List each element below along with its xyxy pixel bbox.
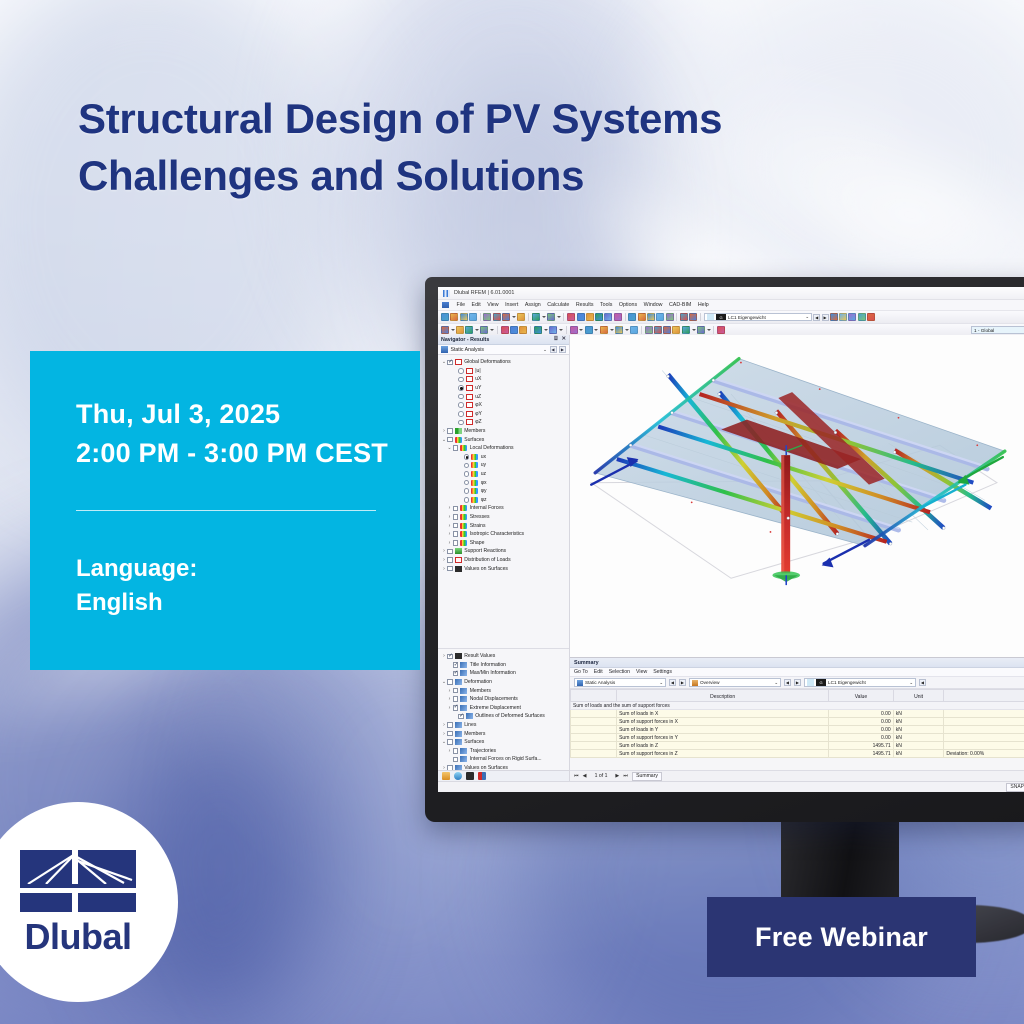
toolbar-icon[interactable] bbox=[441, 313, 449, 321]
toolbar-separator bbox=[497, 326, 498, 334]
tree-item[interactable]: ›Strains bbox=[438, 521, 569, 530]
chevron-down-icon[interactable]: ⌄ bbox=[805, 314, 809, 320]
divider bbox=[76, 510, 376, 511]
tree-item-icon bbox=[460, 523, 467, 529]
summary-analysis-value: Static Analysis bbox=[585, 680, 615, 685]
tree-radio[interactable] bbox=[458, 420, 464, 426]
tree-item[interactable]: φy bbox=[438, 487, 569, 496]
tree-checkbox[interactable] bbox=[447, 360, 453, 366]
chevron-down-icon[interactable] bbox=[542, 316, 546, 318]
tree-item-icon bbox=[460, 531, 467, 537]
toolbar-icon[interactable] bbox=[519, 326, 527, 334]
tree-item[interactable]: Title Information bbox=[438, 661, 569, 670]
toolbar-icon[interactable] bbox=[682, 326, 690, 334]
table-row[interactable]: Sum of loads in Y0.00kN bbox=[571, 726, 1024, 734]
tree-item-label: Result Values bbox=[464, 653, 495, 659]
video-tab-icon[interactable] bbox=[466, 772, 474, 780]
tree-checkbox[interactable] bbox=[453, 523, 459, 529]
tree-item[interactable]: Max/Min Information bbox=[438, 669, 569, 678]
toolbar-icon[interactable] bbox=[672, 326, 680, 334]
toolbar-icon[interactable] bbox=[689, 313, 697, 321]
toolbar-icon[interactable] bbox=[460, 313, 468, 321]
table-row[interactable]: Sum of support forces in X0.00kN bbox=[571, 718, 1024, 726]
webinar-info-card: Thu, Jul 3, 2025 2:00 PM - 3:00 PM CEST … bbox=[30, 351, 420, 670]
tree-checkbox[interactable] bbox=[453, 705, 459, 711]
tree-checkbox[interactable] bbox=[447, 739, 453, 745]
summary-footer: ⏮ ◀ 1 of 1 ▶ ⏭ Summary bbox=[570, 770, 1024, 781]
toolbar-loadcase-prev[interactable]: ◀ bbox=[813, 314, 820, 321]
tree-item[interactable]: ux bbox=[438, 453, 569, 462]
tree-item-icon bbox=[466, 385, 473, 391]
tree-item[interactable]: ›Trajectories bbox=[438, 747, 569, 756]
cell-value: 1495.71 bbox=[829, 750, 894, 758]
tree-item[interactable]: ›Isotropic Characteristics bbox=[438, 530, 569, 539]
toolbar-icon[interactable] bbox=[549, 326, 557, 334]
chevron-down-icon[interactable] bbox=[475, 329, 479, 331]
tree-item-icon bbox=[466, 376, 473, 382]
chevron-down-icon[interactable] bbox=[512, 316, 516, 318]
tree-checkbox[interactable] bbox=[453, 531, 459, 537]
tree-item-icon bbox=[460, 445, 467, 451]
snap-status[interactable]: SNAP bbox=[1006, 783, 1024, 792]
summary-loadcase-value: LC1 Eigengewicht bbox=[828, 680, 866, 685]
chevron-down-icon[interactable] bbox=[559, 329, 563, 331]
tree-item-icon bbox=[455, 739, 462, 745]
prev-page-button[interactable]: ◀ bbox=[583, 773, 587, 779]
summary-view-value: Overview bbox=[700, 680, 720, 685]
tree-item-label: Trajectories bbox=[470, 748, 496, 754]
toolbar-icon[interactable] bbox=[510, 326, 518, 334]
toolbar-icon[interactable] bbox=[858, 313, 866, 321]
tree-item[interactable]: Internal Forces on Rigid Surfa... bbox=[438, 755, 569, 764]
tree-radio[interactable] bbox=[458, 385, 464, 391]
tree-item[interactable]: ›Lines bbox=[438, 721, 569, 730]
tree-checkbox[interactable] bbox=[447, 679, 453, 685]
tree-checkbox[interactable] bbox=[453, 696, 459, 702]
tree-item-icon bbox=[471, 480, 478, 486]
toolbar-icon[interactable] bbox=[663, 326, 671, 334]
toolbar-icon[interactable] bbox=[585, 326, 593, 334]
chevron-down-icon[interactable] bbox=[594, 329, 598, 331]
column-header-unit: Unit bbox=[893, 690, 944, 702]
toolbar-icon[interactable] bbox=[547, 313, 555, 321]
cell-note bbox=[944, 710, 1024, 718]
member-tab-icon[interactable] bbox=[478, 772, 486, 780]
summary-analysis-next[interactable]: ▶ bbox=[679, 679, 686, 686]
page-indicator: 1 of 1 bbox=[595, 773, 608, 779]
menu-item-options[interactable]: Options bbox=[619, 302, 637, 308]
tree-item[interactable]: uy bbox=[438, 461, 569, 470]
model-viewport[interactable]: Summary Go To Edit Selection View Settin… bbox=[570, 335, 1024, 781]
loadcase-color-swatch bbox=[807, 679, 814, 686]
toolbar-icon[interactable] bbox=[469, 313, 477, 321]
tree-item-label: Members bbox=[464, 731, 485, 737]
tree-item[interactable]: ⌄Deformation bbox=[438, 678, 569, 687]
toolbar-icon[interactable] bbox=[614, 313, 622, 321]
analysis-icon bbox=[441, 346, 448, 353]
summary-title: Summary bbox=[570, 658, 1024, 668]
tree-item[interactable]: ›Values on Surfaces bbox=[438, 564, 569, 573]
menu-app-icon bbox=[442, 302, 449, 308]
work-area: Navigator - Results ⌸ ✕ Static Analysis … bbox=[438, 335, 1024, 781]
tree-checkbox[interactable] bbox=[453, 757, 459, 763]
toolbar-icon[interactable] bbox=[450, 313, 458, 321]
menu-item-insert[interactable]: Insert bbox=[505, 302, 518, 308]
tree-item-label: φY bbox=[475, 411, 482, 417]
tree-item-label: uy bbox=[481, 462, 486, 468]
tree-item-label: Members bbox=[470, 688, 491, 694]
tree-item-icon bbox=[460, 705, 467, 711]
tree-item-icon bbox=[471, 454, 478, 460]
toolbar-icon[interactable] bbox=[600, 326, 608, 334]
toolbar-icon[interactable] bbox=[647, 313, 655, 321]
toolbar-icon[interactable] bbox=[532, 313, 540, 321]
tree-item-icon bbox=[460, 696, 467, 702]
tree-item[interactable]: ⌄Local Deformations bbox=[438, 444, 569, 453]
toolbar-icon[interactable] bbox=[645, 326, 653, 334]
pin-icon[interactable]: ⌸ bbox=[554, 336, 557, 343]
chevron-down-icon[interactable] bbox=[451, 329, 455, 331]
tree-item-icon bbox=[460, 670, 467, 676]
menu-item-assign[interactable]: Assign bbox=[525, 302, 541, 308]
cell-description: Sum of loads in X bbox=[617, 710, 829, 718]
cell-unit: kN bbox=[893, 734, 944, 742]
toolbar-icon[interactable] bbox=[567, 313, 575, 321]
summary-panel: Summary Go To Edit Selection View Settin… bbox=[570, 657, 1024, 781]
toolbar-icon[interactable] bbox=[483, 313, 491, 321]
toolbar-icon[interactable] bbox=[441, 326, 449, 334]
tree-checkbox[interactable] bbox=[453, 540, 459, 546]
summary-tab[interactable]: Summary bbox=[632, 772, 662, 781]
toolbar-icon[interactable] bbox=[456, 326, 464, 334]
chevron-down-icon[interactable]: ⌄ bbox=[543, 347, 547, 353]
toolbar-icon[interactable] bbox=[595, 313, 603, 321]
tree-item[interactable]: φX bbox=[438, 401, 569, 410]
menu-item-tools[interactable]: Tools bbox=[600, 302, 612, 308]
tree-item[interactable]: φx bbox=[438, 478, 569, 487]
summary-menu-view[interactable]: View bbox=[636, 669, 647, 675]
chevron-down-icon[interactable] bbox=[579, 329, 583, 331]
close-icon[interactable]: ✕ bbox=[561, 336, 566, 343]
toolbar-icon[interactable] bbox=[493, 313, 501, 321]
rfem-application: Dlubal RFEM | 6.01.0001 File Edit View I… bbox=[438, 287, 1024, 792]
tree-item-label: φy bbox=[481, 488, 487, 494]
tree-item-label: Strains bbox=[470, 523, 486, 529]
analysis-icon bbox=[577, 680, 583, 686]
tree-item[interactable]: φY bbox=[438, 410, 569, 419]
tree-item[interactable]: Outlines of Deformed Surfaces bbox=[438, 712, 569, 721]
tree-item-icon bbox=[466, 713, 473, 719]
tree-item-label: uX bbox=[475, 376, 481, 382]
chevron-down-icon[interactable] bbox=[490, 329, 494, 331]
tree-item[interactable]: ›Members bbox=[438, 686, 569, 695]
last-page-button[interactable]: ⏭ bbox=[623, 773, 628, 780]
table-row[interactable]: Sum of loads in Z1495.71kN bbox=[571, 742, 1024, 750]
tree-radio[interactable] bbox=[464, 488, 470, 494]
summary-loadcase-prev[interactable]: ◀ bbox=[919, 679, 926, 686]
menu-item-edit[interactable]: Edit bbox=[472, 302, 481, 308]
tree-item[interactable]: ⌄Global Deformations bbox=[438, 358, 569, 367]
visibility-tab-icon[interactable] bbox=[454, 772, 462, 780]
tree-item-label: φZ bbox=[475, 419, 481, 425]
menu-bar: File Edit View Insert Assign Calculate R… bbox=[438, 300, 1024, 311]
toolbar-loadcase-select[interactable]: GLC1 Eigengewicht⌄ bbox=[704, 313, 812, 322]
toolbar-icon[interactable] bbox=[570, 326, 578, 334]
tree-item-icon bbox=[460, 748, 467, 754]
toolbar-icon[interactable] bbox=[839, 313, 847, 321]
tree-checkbox[interactable] bbox=[447, 437, 453, 443]
toolbar-icon[interactable] bbox=[502, 313, 510, 321]
chevron-down-icon[interactable]: ⌄ bbox=[909, 680, 913, 686]
tree-item-icon bbox=[466, 402, 473, 408]
tree-item-label: Deformation bbox=[464, 679, 492, 685]
chevron-down-icon[interactable] bbox=[707, 329, 711, 331]
tree-item[interactable]: ›Stresses bbox=[438, 513, 569, 522]
tree-radio[interactable] bbox=[458, 394, 464, 400]
table-header-row: Description Value Unit bbox=[571, 690, 1024, 702]
toolbar-icon[interactable] bbox=[717, 326, 725, 334]
tree-item-label: Max/Min Information bbox=[470, 670, 516, 676]
tree-item-label: Values on Surfaces bbox=[464, 765, 508, 770]
toolbar-icon[interactable] bbox=[654, 326, 662, 334]
tree-checkbox[interactable] bbox=[447, 549, 453, 555]
menu-item-view[interactable]: View bbox=[487, 302, 498, 308]
cell-value: 0.00 bbox=[829, 734, 894, 742]
toolbar-separator bbox=[530, 326, 531, 334]
tree-checkbox[interactable] bbox=[447, 731, 453, 737]
toolbar-icon[interactable] bbox=[848, 313, 856, 321]
cell-note bbox=[944, 726, 1024, 734]
tree-item[interactable]: uX bbox=[438, 375, 569, 384]
tree-item[interactable]: ›Distribution of Loads bbox=[438, 556, 569, 565]
tree-item-icon bbox=[466, 419, 473, 425]
tree-checkbox[interactable] bbox=[453, 506, 459, 512]
toolbar-separator bbox=[713, 326, 714, 334]
summary-menu-selection[interactable]: Selection bbox=[609, 669, 630, 675]
chevron-down-icon[interactable]: ⌄ bbox=[659, 680, 663, 686]
tree-checkbox[interactable] bbox=[447, 557, 453, 563]
tree-item[interactable]: ›Internal Forces bbox=[438, 504, 569, 513]
summary-view-next[interactable]: ▶ bbox=[794, 679, 801, 686]
tree-item-icon bbox=[466, 394, 473, 400]
row-gutter bbox=[571, 734, 617, 742]
tree-checkbox[interactable] bbox=[447, 428, 453, 434]
toolbar-icon[interactable] bbox=[638, 313, 646, 321]
cell-unit: kN bbox=[893, 710, 944, 718]
toolbar-icon[interactable] bbox=[577, 313, 585, 321]
tree-item-label: Local Deformations bbox=[470, 445, 514, 451]
table-group-row: Sum of loads and the sum of support forc… bbox=[571, 702, 1024, 710]
webinar-date: Thu, Jul 3, 2025 bbox=[76, 395, 420, 434]
tree-checkbox[interactable] bbox=[453, 445, 459, 451]
tree-item-icon bbox=[471, 462, 478, 468]
tree-item[interactable]: ⌄Surfaces bbox=[438, 435, 569, 444]
toolbar-icon[interactable] bbox=[615, 326, 623, 334]
tree-item[interactable]: uY bbox=[438, 384, 569, 393]
tree-item-label: Internal Forces on Rigid Surfa... bbox=[470, 756, 542, 762]
tree-checkbox[interactable] bbox=[453, 662, 459, 668]
tree-item[interactable]: ›Nodal Displacements bbox=[438, 695, 569, 704]
group-label: Sum of loads and the sum of support forc… bbox=[571, 702, 1024, 710]
row-gutter bbox=[571, 750, 617, 758]
tree-item-icon bbox=[471, 471, 478, 477]
toolbar-loadcase-next[interactable]: ▶ bbox=[822, 314, 829, 321]
chevron-down-icon[interactable]: ⌄ bbox=[774, 680, 778, 686]
toolbar-icon[interactable] bbox=[830, 313, 838, 321]
toolbar-icon[interactable] bbox=[517, 313, 525, 321]
chevron-down-icon[interactable] bbox=[544, 329, 548, 331]
tree-item-icon bbox=[460, 756, 467, 762]
chevron-down-icon[interactable] bbox=[610, 329, 614, 331]
chevron-down-icon[interactable] bbox=[692, 329, 696, 331]
tree-item-icon bbox=[455, 679, 462, 685]
tree-item-icon bbox=[460, 514, 467, 520]
tree-item-label: ux bbox=[481, 454, 486, 460]
tree-radio[interactable] bbox=[458, 368, 464, 374]
menu-item-help[interactable]: Help bbox=[698, 302, 709, 308]
toolbar-icon[interactable] bbox=[465, 326, 473, 334]
summary-analysis-prev[interactable]: ◀ bbox=[669, 679, 676, 686]
prev-button[interactable]: ◀ bbox=[550, 346, 557, 353]
table-row[interactable]: Sum of support forces in Y0.00kN bbox=[571, 734, 1024, 742]
tree-radio[interactable] bbox=[458, 377, 464, 383]
tree-item[interactable]: φz bbox=[438, 496, 569, 505]
toolbar-separator bbox=[676, 313, 677, 321]
summary-menu-goto[interactable]: Go To bbox=[574, 669, 588, 675]
menu-item-results[interactable]: Results bbox=[576, 302, 594, 308]
summary-view-select[interactable]: Overview ⌄ bbox=[689, 678, 781, 687]
tree-checkbox[interactable] bbox=[453, 671, 459, 677]
toolbar-icon[interactable] bbox=[534, 326, 542, 334]
summary-menu-edit[interactable]: Edit bbox=[594, 669, 603, 675]
menu-item-calculate[interactable]: Calculate bbox=[547, 302, 569, 308]
tree-item-label: Values on Surfaces bbox=[464, 566, 508, 572]
results-tab-icon[interactable] bbox=[442, 772, 450, 780]
tree-checkbox[interactable] bbox=[447, 654, 453, 660]
table-row[interactable]: Sum of support forces in Z1495.71kNDevia… bbox=[571, 750, 1024, 758]
toolbar-icon[interactable] bbox=[501, 326, 509, 334]
tree-item[interactable]: ›Values on Surfaces bbox=[438, 764, 569, 770]
menu-item-cadbim[interactable]: CAD-BIM bbox=[669, 302, 691, 308]
toolbar-icon[interactable] bbox=[680, 313, 688, 321]
tree-item[interactable]: ›Members bbox=[438, 427, 569, 436]
tree-item[interactable]: uZ bbox=[438, 392, 569, 401]
row-gutter bbox=[571, 718, 617, 726]
tree-item-label: Global Deformations bbox=[464, 359, 510, 365]
tree-item-label: Stresses bbox=[470, 514, 490, 520]
summary-analysis-select[interactable]: Static Analysis ⌄ bbox=[574, 678, 666, 687]
toolbar-icon[interactable] bbox=[666, 313, 674, 321]
navigator-title: Navigator - Results bbox=[441, 337, 489, 343]
cell-unit: kN bbox=[893, 750, 944, 758]
cell-unit: kN bbox=[893, 726, 944, 734]
menu-item-window[interactable]: Window bbox=[644, 302, 663, 308]
tree-item-label: Shape bbox=[470, 540, 485, 546]
tree-item-icon bbox=[466, 368, 473, 374]
language-label: Language: bbox=[76, 552, 420, 586]
table-row[interactable]: Sum of loads in X0.00kN bbox=[571, 710, 1024, 718]
tree-item[interactable]: φZ bbox=[438, 418, 569, 427]
toolbar-coordsystem-select[interactable]: 1 - Global bbox=[971, 326, 1024, 335]
first-page-button[interactable]: ⏮ bbox=[574, 773, 579, 780]
summary-table-wrap: Description Value Unit Sum of loads and … bbox=[570, 689, 1024, 770]
tree-radio[interactable] bbox=[464, 454, 470, 460]
tree-item-label: Outlines of Deformed Surfaces bbox=[475, 713, 545, 719]
tree-item[interactable]: ›Result Values bbox=[438, 652, 569, 661]
tree-checkbox[interactable] bbox=[447, 566, 453, 572]
toolbar-icon[interactable] bbox=[628, 313, 636, 321]
tree-item-label: Nodal Displacements bbox=[470, 696, 518, 702]
chevron-down-icon[interactable] bbox=[625, 329, 629, 331]
page-title: Structural Design of PV Systems Challeng… bbox=[78, 90, 722, 204]
tree-item-label: Surfaces bbox=[464, 437, 484, 443]
tree-item-icon bbox=[455, 428, 462, 434]
toolbar-coordsystem-value: 1 - Global bbox=[974, 328, 994, 333]
toolbar-icon[interactable] bbox=[630, 326, 638, 334]
next-page-button[interactable]: ▶ bbox=[615, 773, 619, 779]
tree-item[interactable]: uz bbox=[438, 470, 569, 479]
loadcase-badge: G bbox=[816, 679, 826, 686]
free-webinar-badge[interactable]: Free Webinar bbox=[707, 897, 976, 977]
tree-item-icon bbox=[455, 722, 462, 728]
tree-item[interactable]: ›Extreme Displacement bbox=[438, 704, 569, 713]
toolbar-icon[interactable] bbox=[586, 313, 594, 321]
navigator-tree-bottom[interactable]: ›Result ValuesTitle InformationMax/Min I… bbox=[438, 648, 569, 770]
tree-item-icon bbox=[460, 662, 467, 668]
tree-item-label: Isotropic Characteristics bbox=[470, 531, 524, 537]
tree-item-label: Members bbox=[464, 428, 485, 434]
tree-item-icon bbox=[471, 497, 478, 503]
navigator-tree-top[interactable]: ⌄Global Deformations|u|uXuYuZφXφYφZ›Memb… bbox=[438, 355, 569, 648]
tree-radio[interactable] bbox=[458, 402, 464, 408]
next-button[interactable]: ▶ bbox=[559, 346, 566, 353]
toolbar-icon[interactable] bbox=[697, 326, 705, 334]
tree-item[interactable]: |u| bbox=[438, 367, 569, 376]
summary-loadcase-select[interactable]: G LC1 Eigengewicht ⌄ bbox=[804, 678, 916, 687]
tree-item[interactable]: ⌄Surfaces bbox=[438, 738, 569, 747]
tree-checkbox[interactable] bbox=[453, 514, 459, 520]
tree-item-label: Support Reactions bbox=[464, 548, 506, 554]
tree-item[interactable]: ›Members bbox=[438, 729, 569, 738]
summary-menu-settings[interactable]: Settings bbox=[653, 669, 672, 675]
toolbar-icon[interactable] bbox=[480, 326, 488, 334]
analysis-selector[interactable]: Static Analysis ⌄ ◀ ▶ bbox=[438, 345, 569, 355]
tree-radio[interactable] bbox=[464, 471, 470, 477]
tree-item[interactable]: ›Shape bbox=[438, 538, 569, 547]
tree-checkbox[interactable] bbox=[447, 765, 453, 770]
tree-item[interactable]: ›Support Reactions bbox=[438, 547, 569, 556]
tree-radio[interactable] bbox=[464, 480, 470, 486]
summary-view-prev[interactable]: ◀ bbox=[784, 679, 791, 686]
tree-radio[interactable] bbox=[458, 411, 464, 417]
toolbar-icon[interactable] bbox=[867, 313, 875, 321]
tree-radio[interactable] bbox=[464, 497, 470, 503]
tree-checkbox[interactable] bbox=[453, 748, 459, 754]
summary-menu-bar: Go To Edit Selection View Settings bbox=[570, 668, 1024, 677]
tree-item-label: Extreme Displacement bbox=[470, 705, 521, 711]
tree-checkbox[interactable] bbox=[458, 714, 464, 720]
toolbar-icon[interactable] bbox=[656, 313, 664, 321]
menu-item-file[interactable]: File bbox=[457, 302, 466, 308]
row-gutter bbox=[571, 742, 617, 750]
tree-checkbox[interactable] bbox=[447, 722, 453, 728]
toolbar-icon[interactable] bbox=[604, 313, 612, 321]
app-title-bar: Dlubal RFEM | 6.01.0001 bbox=[438, 287, 1024, 300]
chevron-down-icon[interactable] bbox=[557, 316, 561, 318]
tree-item-label: φx bbox=[481, 480, 487, 486]
tree-radio[interactable] bbox=[464, 463, 470, 469]
tree-checkbox[interactable] bbox=[453, 688, 459, 694]
